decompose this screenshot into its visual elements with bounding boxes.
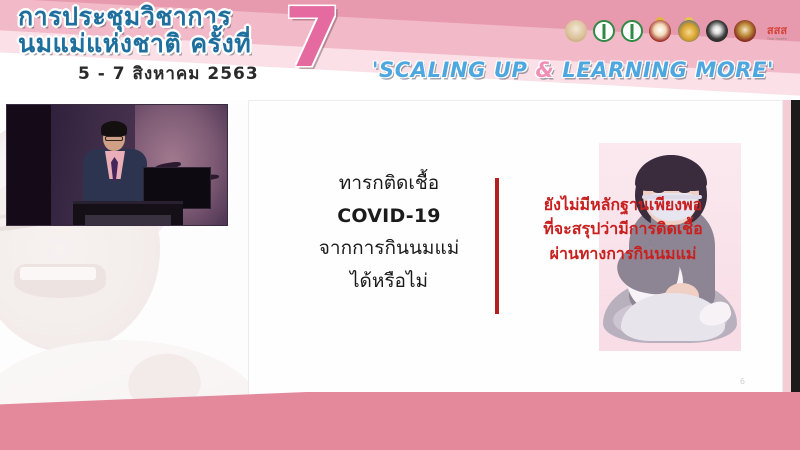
logo-thaihealth-icon: สสส Thai Health [760, 19, 794, 53]
logo-red-emblem-icon [732, 19, 759, 53]
tagline-suffix: LEARNING MORE' [554, 58, 774, 82]
question-line-3: จากการกินนมแม่ [289, 232, 489, 265]
slide-answer: ยังไม่มีหลักฐานเพียงพอ ที่จะสรุปว่ามีการ… [507, 193, 739, 266]
thaihealth-label: สสส [760, 25, 794, 36]
question-line-4: ได้หรือไม่ [289, 265, 489, 298]
conference-tagline: 'SCALING UP & LEARNING MORE' [358, 58, 788, 82]
logo-black-emblem-icon [703, 19, 730, 53]
conference-header: การประชุมวิชาการ นมแม่แห่งชาติ ครั้งที่ … [0, 0, 800, 100]
conference-date: 5 - 7 สิงหาคม 2563 [78, 60, 259, 87]
wedge-fill [0, 392, 800, 450]
conference-title: การประชุมวิชาการ นมแม่แห่งชาติ ครั้งที่ [18, 4, 318, 56]
logo-ministry-public-health-2-icon [619, 19, 646, 53]
slide-question: ทารกติดเชื้อ COVID-19 จากการกินนมแม่ ได้… [289, 167, 489, 298]
logo-royal-garuda-icon [675, 19, 702, 53]
conference-title-line1: การประชุมวิชาการ [18, 4, 318, 30]
speaker-video-thumbnail[interactable] [6, 104, 228, 226]
answer-line-1: ยังไม่มีหลักฐานเพียงพอ [507, 193, 739, 217]
conference-title-line2: นมแม่แห่งชาติ ครั้งที่ [18, 31, 318, 57]
presentation-slide: ทารกติดเชื้อ COVID-19 จากการกินนมแม่ ได้… [248, 100, 783, 396]
bottom-pink-wedge [0, 392, 800, 450]
slide-page-number: 6 [740, 377, 745, 386]
tagline-prefix: 'SCALING UP [372, 58, 536, 82]
slide-screenshot: การประชุมวิชาการ นมแม่แห่งชาติ ครั้งที่ … [0, 0, 800, 450]
podium-base [85, 215, 171, 226]
speaker-glasses-icon [105, 136, 123, 141]
answer-line-2: ที่จะสรุปว่ามีการติดเชื้อ [507, 217, 739, 241]
answer-line-3: ผ่านทางการกินนมแม่ [507, 242, 739, 266]
logo-ministry-public-health-1-icon [590, 19, 617, 53]
question-line-2: COVID-19 [289, 200, 489, 233]
organization-logos: สสส Thai Health [562, 16, 794, 56]
video-dark-left-panel [7, 105, 51, 225]
illustration-mother-hair-top [635, 155, 707, 191]
tagline-ampersand: & [535, 58, 554, 82]
logo-thai-royal-seal-icon [562, 19, 589, 53]
edition-number: 7 [284, 0, 341, 80]
speaker-hair [101, 121, 127, 136]
logo-royal-college-1-icon [647, 19, 674, 53]
thaihealth-sublabel: Thai Health [760, 37, 794, 41]
red-vertical-divider [495, 178, 499, 314]
question-line-1: ทารกติดเชื้อ [289, 167, 489, 200]
